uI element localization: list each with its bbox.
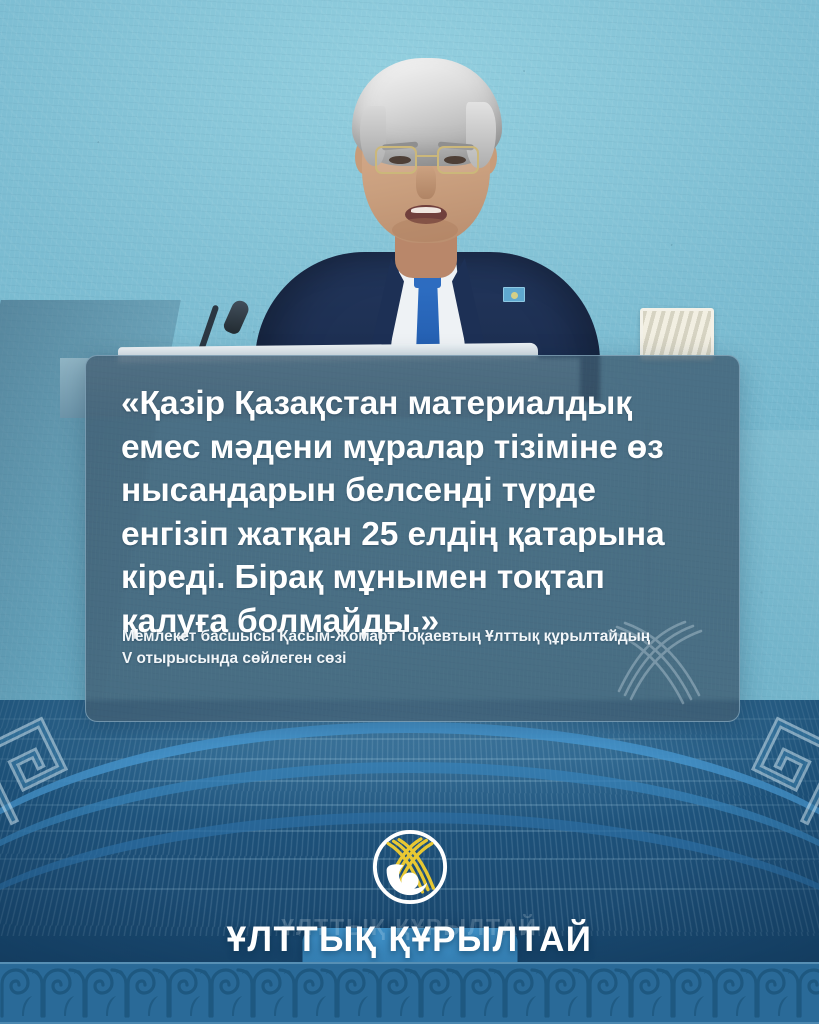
quote-attribution: Мемлекет басшысы Қасым-Жомарт Тоқаевтың …	[122, 626, 662, 671]
spiral-border-band	[0, 962, 819, 1024]
speaker-portrait	[0, 0, 819, 400]
spiral-scroll-border-icon	[0, 968, 819, 1022]
ulttyq-quryltai-emblem-icon	[371, 828, 449, 906]
quote-card: «Қазір Қазақстан материалдық емес мәдени…	[85, 355, 740, 722]
eyeglasses-icon	[375, 146, 479, 176]
quote-text: «Қазір Қазақстан материалдық емес мәдени…	[121, 382, 709, 643]
branding-ghost-title: ҰЛТТЫҚ ҚҰРЫЛТАЙ	[0, 914, 819, 941]
kazakhstan-flag-pin-icon	[503, 287, 525, 302]
poster-canvas: «Қазір Қазақстан материалдық емес мәдени…	[0, 0, 819, 1024]
speaker-chin	[392, 218, 458, 242]
